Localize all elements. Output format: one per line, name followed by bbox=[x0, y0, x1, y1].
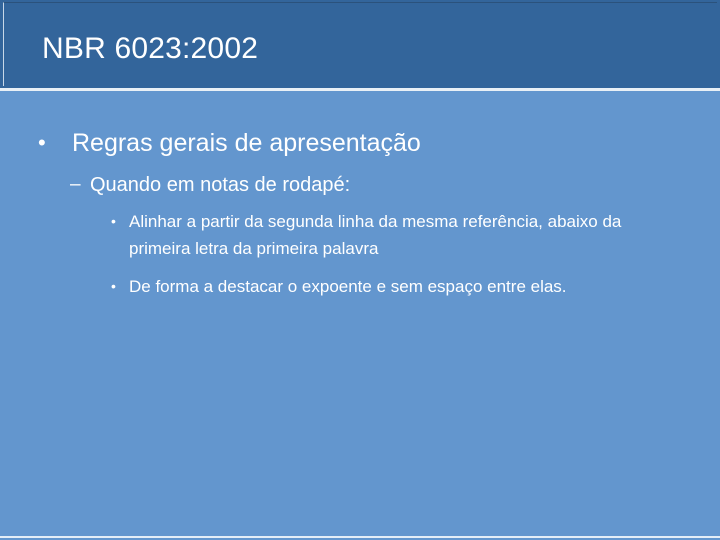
slide-bottom-edge bbox=[0, 536, 720, 538]
slide-body: • Regras gerais de apresentação – Quando… bbox=[0, 91, 720, 538]
list-item-text: De forma a destacar o expoente e sem esp… bbox=[129, 273, 634, 300]
list-item: • Regras gerais de apresentação bbox=[38, 127, 720, 159]
bullet-marker-icon: • bbox=[111, 208, 129, 235]
list-item-text: Alinhar a partir da segunda linha da mes… bbox=[129, 208, 634, 262]
page-title: NBR 6023:2002 bbox=[42, 30, 700, 68]
dash-marker-icon: – bbox=[70, 171, 90, 199]
bullet-marker-icon: • bbox=[38, 127, 72, 159]
bullet-marker-icon: • bbox=[111, 273, 129, 300]
slide-content: • Regras gerais de apresentação – Quando… bbox=[0, 91, 720, 300]
outline-list: • Regras gerais de apresentação – Quando… bbox=[0, 127, 720, 300]
list-item: • Alinhar a partir da segunda linha da m… bbox=[111, 208, 720, 262]
list-item: • De forma a destacar o expoente e sem e… bbox=[111, 273, 720, 300]
list-item-text: Quando em notas de rodapé: bbox=[90, 171, 610, 199]
slide-header-band: NBR 6023:2002 bbox=[0, 0, 720, 88]
list-item-text: Regras gerais de apresentação bbox=[72, 127, 592, 159]
presentation-slide: NBR 6023:2002 • Regras gerais de apresen… bbox=[0, 0, 720, 540]
list-item: – Quando em notas de rodapé: bbox=[70, 171, 720, 199]
